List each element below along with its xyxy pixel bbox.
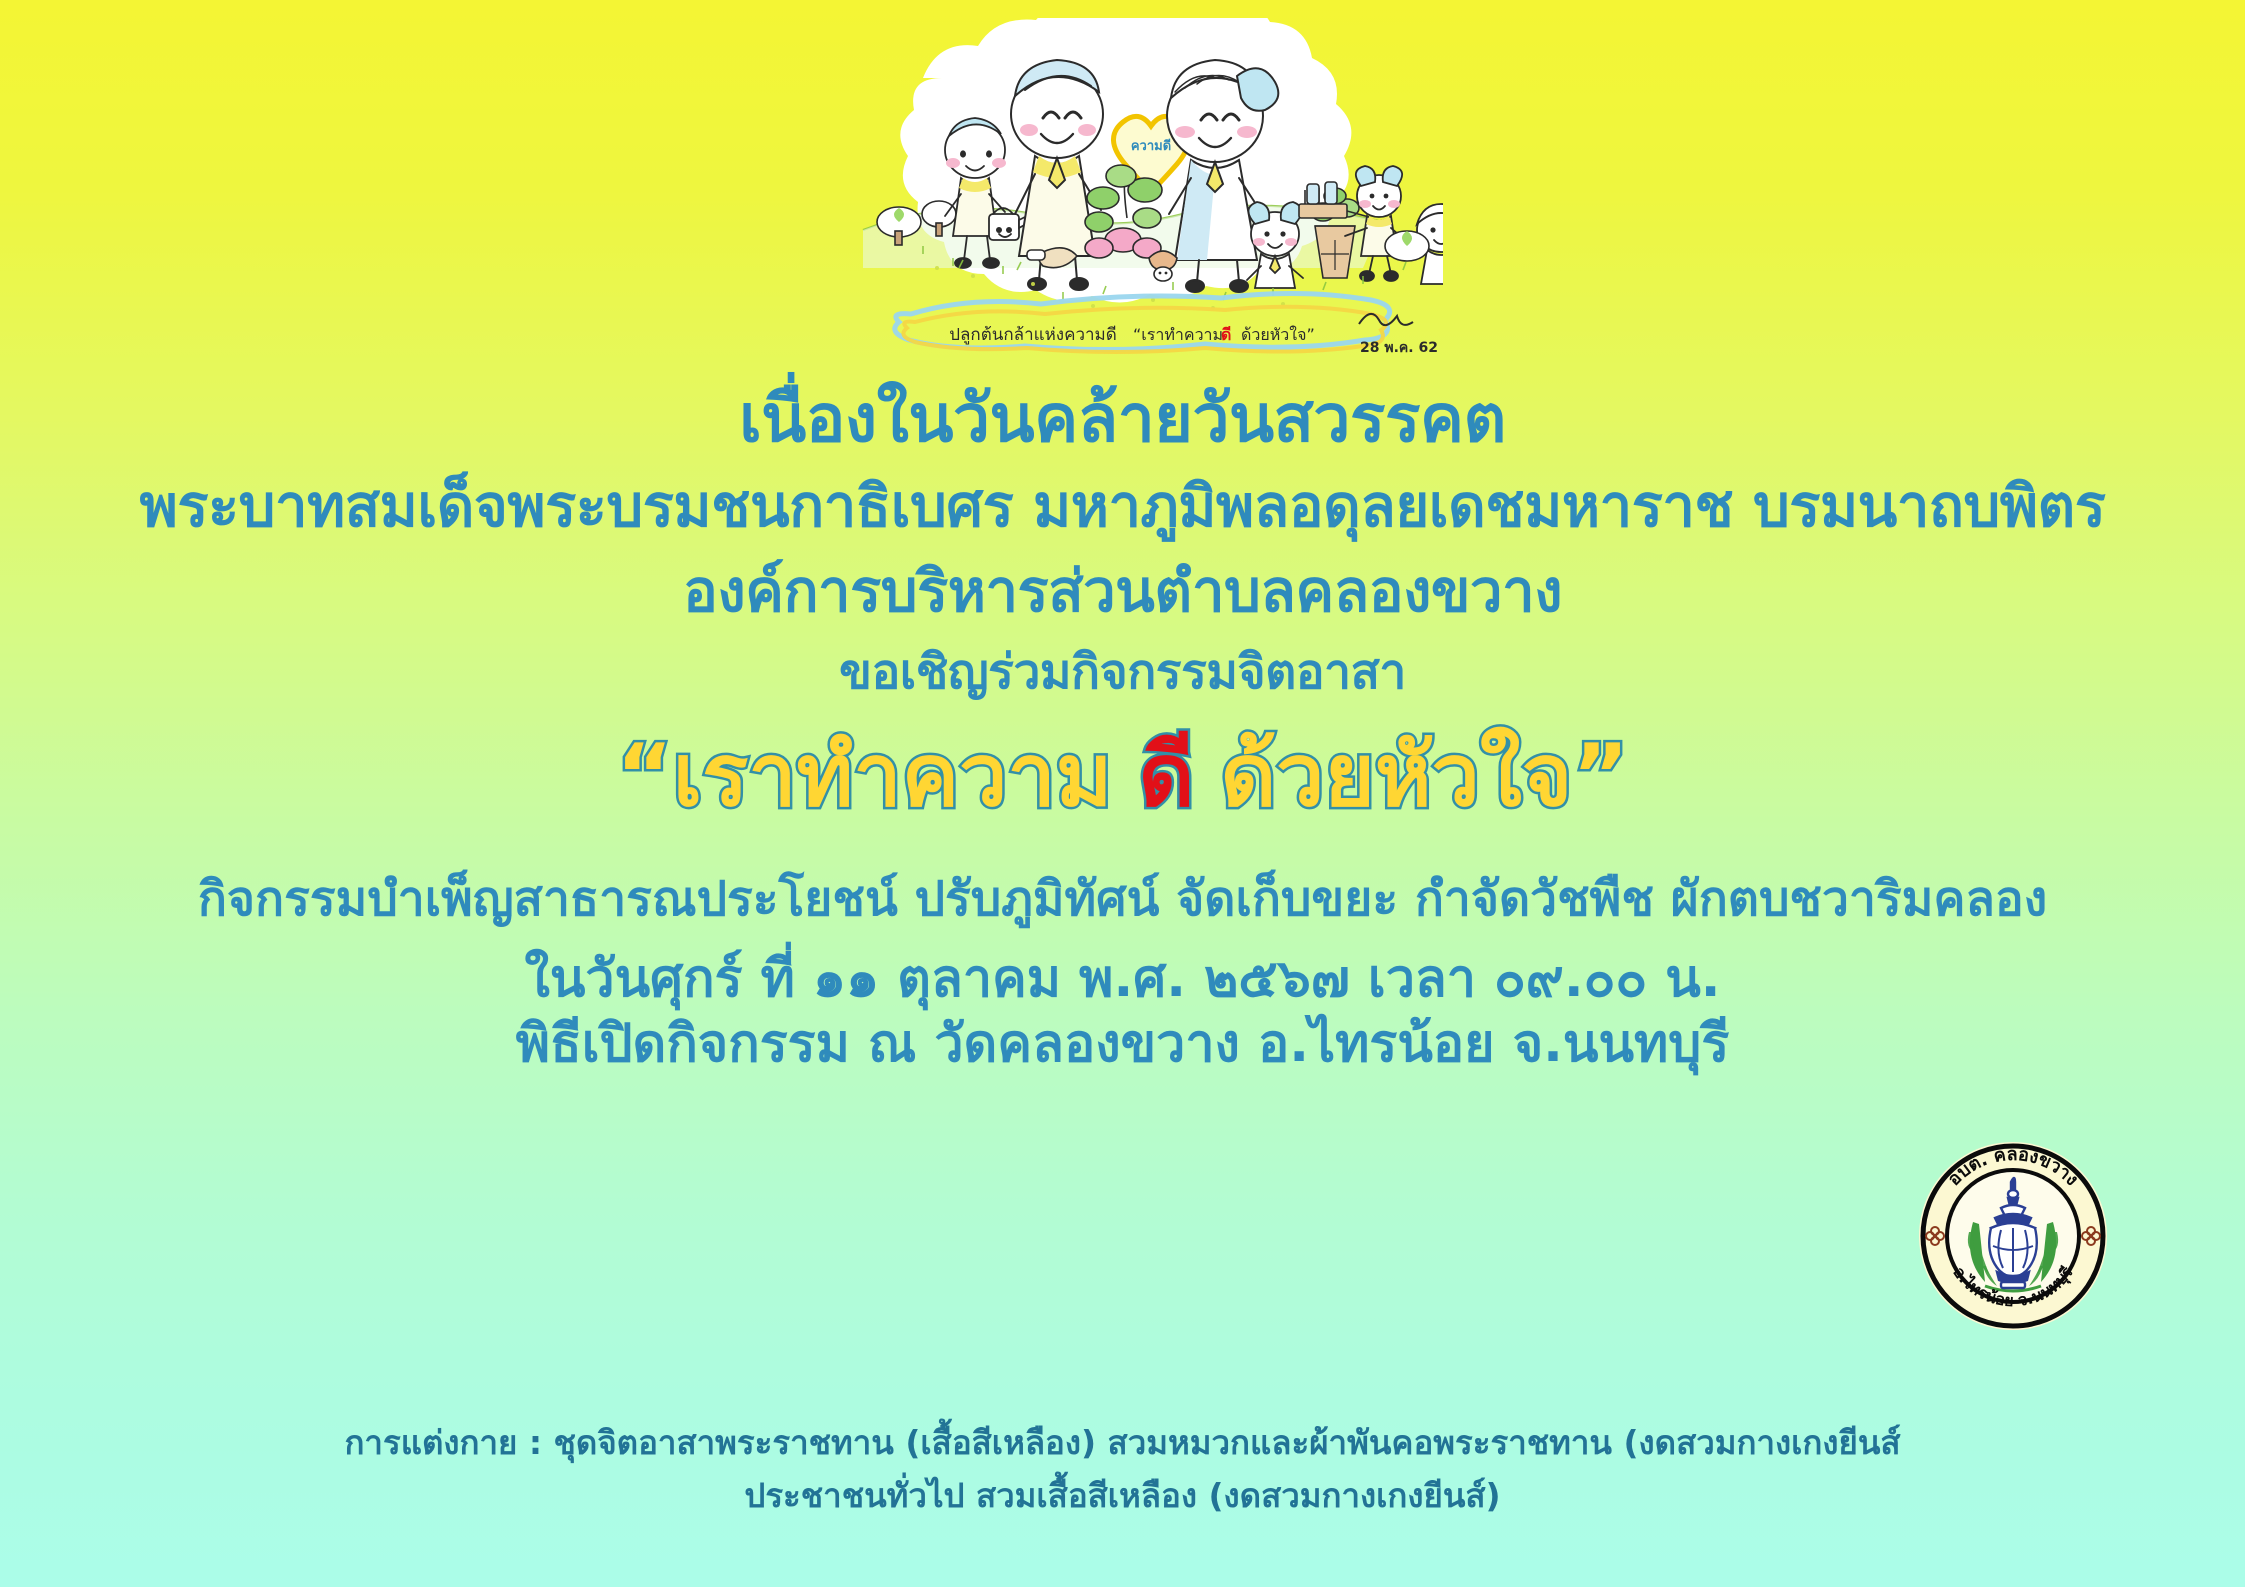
detail-date-time: ในวันศุกร์ ที่ ๑๑ ตุลาคม พ.ศ. ๒๕๖๗ เวลา … xyxy=(0,947,2245,1012)
dress-code-line-1: การแต่งกาย : ชุดจิตอาสาพระราชทาน (เสื้อส… xyxy=(0,1416,2245,1469)
volunteer-illustration-svg: ความดี xyxy=(803,18,1443,370)
official-seal-svg: อบต. คลองขวาง อ.ไทรน้อย จ.นนทบุรี xyxy=(1913,1136,2113,1336)
bush-right xyxy=(1385,231,1429,261)
slogan-close-quote: ” xyxy=(1572,726,1629,826)
heart-label: ความดี xyxy=(1130,138,1170,154)
child-center xyxy=(1247,202,1303,288)
slogan-accent-good: ดี xyxy=(1138,726,1194,826)
caption-left: ปลูกต้นกล้าแห่งความดี xyxy=(949,325,1117,345)
slogan-part2: ด้วยหัวใจ xyxy=(1220,726,1572,826)
dress-code-footer: การแต่งกาย : ชุดจิตอาสาพระราชทาน (เสื้อส… xyxy=(0,1416,2245,1523)
signature-date: 28 พ.ค. 62 xyxy=(1360,340,1438,356)
artist-signature: 28 พ.ค. 62 xyxy=(1359,314,1438,356)
caption-quote: “เราทำความ xyxy=(1133,325,1223,344)
dress-code-line-2: ประชาชนทั่วไป สวมเสื้อสีเหลือง (งดสวมกาง… xyxy=(0,1469,2245,1522)
slogan-part1: เราทำความ xyxy=(673,726,1113,826)
detail-activity: กิจกรรมบำเพ็ญสาธารณประโยชน์ ปรับภูมิทัศน… xyxy=(0,871,2245,929)
slogan: “เราทำความดีด้วยหัวใจ” xyxy=(0,726,2245,827)
detail-venue: พิธีเปิดกิจกรรม ณ วัดคลองขวาง อ.ไทรน้อย … xyxy=(0,1012,2245,1077)
heading-organization: องค์การบริหารส่วนตำบลคลองขวาง xyxy=(0,559,2245,624)
heading-king-title: พระบาทสมเด็จพระบรมชนกาธิเบศร มหาภูมิพลอด… xyxy=(0,474,2245,539)
heading-invitation: ขอเชิญร่วมกิจกรรมจิตอาสา xyxy=(0,646,2245,700)
caption-quote-good: ดี xyxy=(1221,325,1231,344)
poster-canvas: ความดี xyxy=(0,0,2245,1587)
poster-text-stack: เนื่องในวันคล้ายวันสวรรคต พระบาทสมเด็จพร… xyxy=(0,382,2245,1077)
heading-anniversary: เนื่องในวันคล้ายวันสวรรคต xyxy=(0,382,2245,456)
caption-quote-tail: ด้วยหัวใจ” xyxy=(1241,325,1315,344)
illustration-caption: ปลูกต้นกล้าแห่งความดี “เราทำความ ดี ด้วย… xyxy=(894,293,1389,352)
official-seal: อบต. คลองขวาง อ.ไทรน้อย จ.นนทบุรี xyxy=(1913,1136,2113,1336)
volunteer-illustration: ความดี xyxy=(803,18,1443,370)
slogan-open-quote: “ xyxy=(616,726,673,826)
